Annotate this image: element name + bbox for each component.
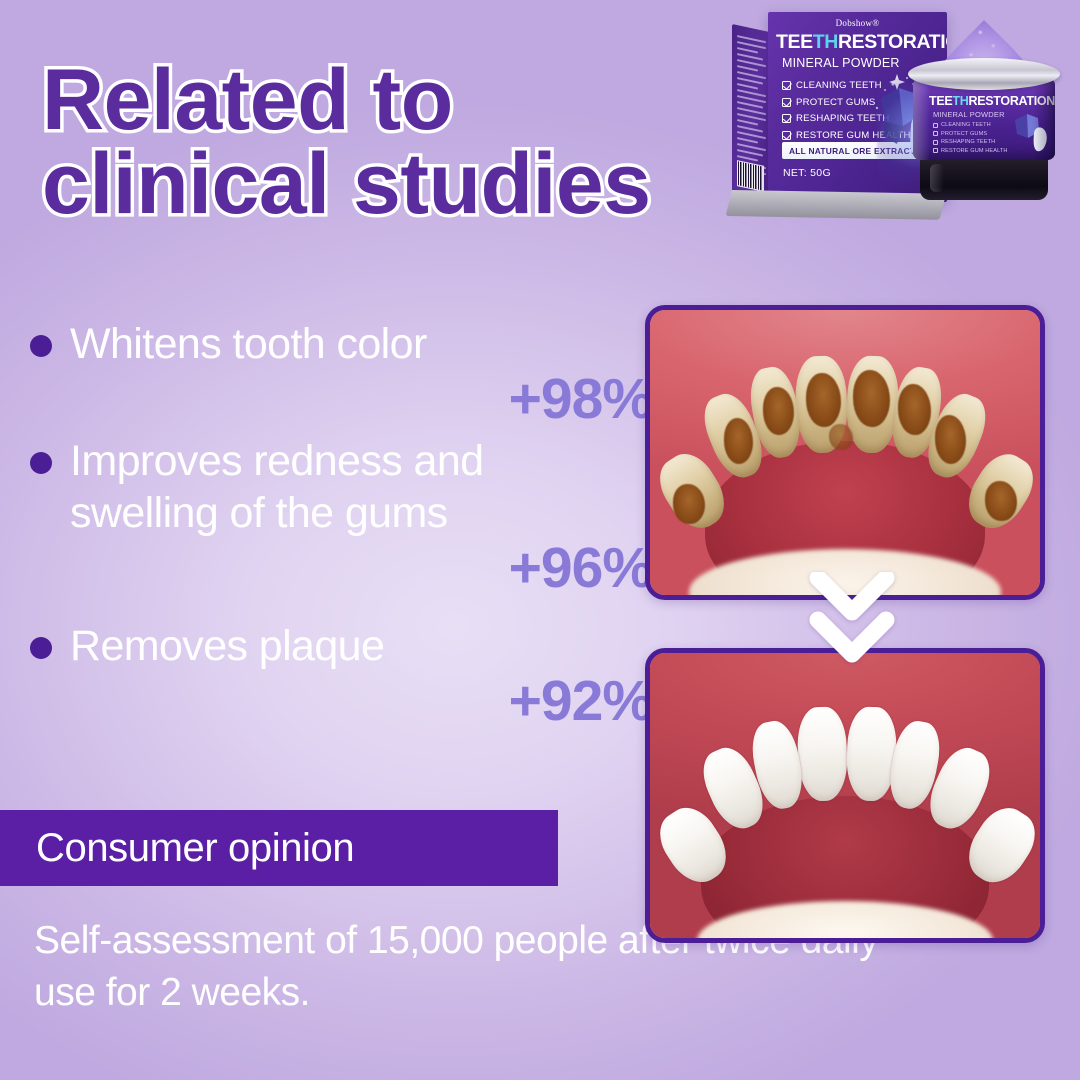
net-weight-label: NET: 50G	[783, 167, 831, 179]
product-name-part-2: TH	[813, 31, 838, 53]
benefits-list: Whitens tooth color +98% Improves rednes…	[30, 318, 660, 736]
feature-item: PROTECT GUMS	[782, 97, 911, 108]
tooth-arch	[650, 653, 1040, 938]
infographic-canvas: Related to clinical studies Dobshow® TEE…	[0, 0, 1080, 1080]
tartar-stain	[829, 424, 852, 450]
benefit-percent: +98%	[30, 370, 660, 428]
page-title-line-1: Related to	[42, 52, 453, 148]
benefit-row: Whitens tooth color +98%	[30, 318, 660, 429]
jar-rim	[908, 58, 1060, 90]
jar-name-part-1: TEE	[929, 94, 952, 108]
page-title-line-2: clinical studies	[42, 142, 762, 226]
consumer-opinion-label: Consumer opinion	[0, 826, 354, 871]
checkbox-icon	[782, 81, 791, 90]
jar-feature-list: CLEANING TEETH PROTECT GUMS RESHAPING TE…	[933, 122, 1008, 156]
benefit-percent: +96%	[30, 539, 660, 597]
tartar-stain	[985, 481, 1016, 521]
checkbox-icon	[782, 131, 791, 140]
jar-product-name: TEETHRESTORATION	[929, 94, 1055, 108]
after-teeth-photo	[645, 648, 1045, 943]
bullet-dot-icon	[30, 637, 52, 659]
jar-name-part-2: TH	[952, 94, 968, 108]
benefit-label: Improves redness and swelling of the gum…	[70, 435, 590, 540]
feature-item: RESHAPING TEETH	[782, 113, 911, 124]
feature-item: RESTORE GUM HEALTH	[782, 130, 911, 141]
jar-feature-item: RESTORE GUM HEALTH	[933, 148, 1008, 154]
bullet-dot-icon	[30, 452, 52, 474]
benefit-label: Whitens tooth color	[70, 318, 427, 370]
feature-label: PROTECT GUMS	[796, 97, 876, 108]
page-title: Related to clinical studies	[42, 58, 762, 227]
checkbox-icon	[933, 131, 938, 136]
feature-item: CLEANING TEETH	[782, 80, 911, 91]
jar-label: Dobshow® TEETHRESTORATION MINERAL POWDER…	[913, 78, 1055, 160]
benefit-label: Removes plaque	[70, 620, 384, 672]
before-mouth-illustration	[650, 310, 1040, 595]
tartar-stain	[898, 384, 931, 435]
benefit-percent: +92%	[30, 672, 660, 730]
jar-feature-label: RESTORE GUM HEALTH	[941, 148, 1008, 154]
benefit-line: Improves redness and swelling of the gum…	[30, 435, 660, 540]
product-subtitle: MINERAL POWDER	[782, 56, 900, 70]
jar-feature-item: CLEANING TEETH	[933, 122, 1008, 128]
feature-label: RESHAPING TEETH	[796, 113, 889, 124]
jar-crystal-tooth-graphic	[1009, 104, 1051, 152]
jar-feature-label: CLEANING TEETH	[941, 122, 991, 128]
product-box-side-panel	[732, 24, 770, 200]
checkbox-icon	[933, 123, 938, 128]
consumer-opinion-banner: Consumer opinion	[0, 810, 558, 886]
feature-label: CLEANING TEETH	[796, 80, 882, 91]
tartar-stain	[673, 484, 704, 524]
tooth	[797, 706, 849, 802]
jar-subtitle: MINERAL POWDER	[933, 110, 1005, 119]
tartar-stain	[763, 387, 794, 435]
product-name-part-1: TEE	[776, 31, 813, 53]
benefit-row: Improves redness and swelling of the gum…	[30, 435, 660, 598]
natural-extract-badge: ALL NATURAL ORE EXTRACT	[782, 142, 922, 159]
tartar-stain	[853, 370, 890, 427]
jar-feature-label: PROTECT GUMS	[941, 131, 987, 137]
checkbox-icon	[933, 140, 938, 145]
tooth	[845, 706, 897, 802]
jar-feature-label: RESHAPING TEETH	[941, 139, 995, 145]
barcode-icon	[737, 160, 764, 192]
checkbox-icon	[782, 114, 791, 123]
tartar-stain	[935, 415, 966, 463]
benefit-row: Removes plaque +92%	[30, 620, 660, 731]
benefit-line: Whitens tooth color	[30, 318, 660, 370]
jar-feature-item: PROTECT GUMS	[933, 131, 1008, 137]
bullet-dot-icon	[30, 335, 52, 357]
benefit-line: Removes plaque	[30, 620, 660, 672]
before-teeth-photo	[645, 305, 1045, 600]
checkbox-icon	[782, 98, 791, 107]
product-feature-list: CLEANING TEETH PROTECT GUMS RESHAPING TE…	[782, 80, 911, 146]
after-mouth-illustration	[650, 653, 1040, 938]
product-package-image: Dobshow® TEETHRESTORATION MINERAL POWDER…	[722, 2, 1080, 214]
jar-feature-item: RESHAPING TEETH	[933, 139, 1008, 145]
feature-label: RESTORE GUM HEALTH	[796, 130, 911, 141]
checkbox-icon	[933, 148, 938, 153]
product-jar: Dobshow® TEETHRESTORATION MINERAL POWDER…	[904, 24, 1064, 204]
